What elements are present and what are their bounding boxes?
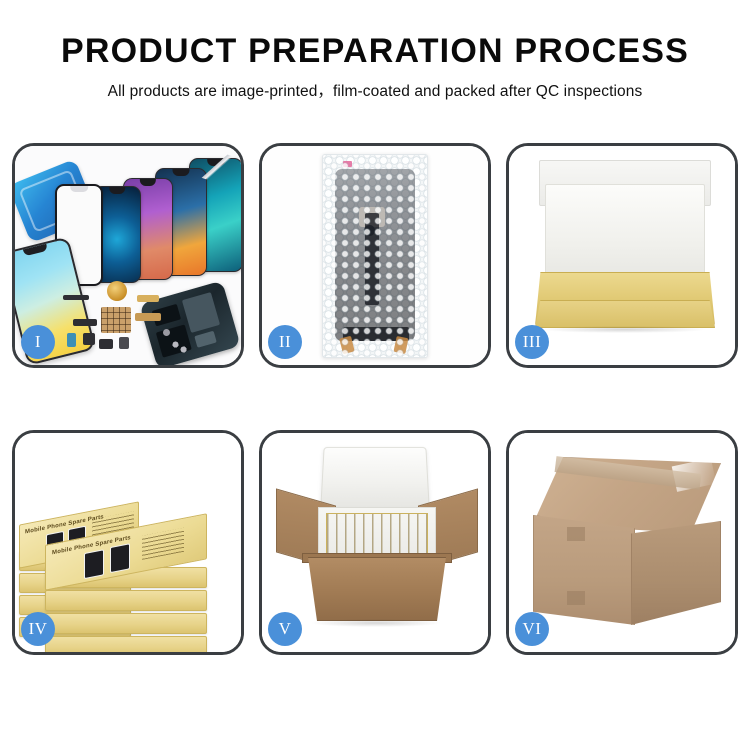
box-tray-front [535, 300, 715, 328]
gold-flex-2 [135, 313, 161, 321]
carton-side-face [631, 521, 721, 625]
box-spec-lines [142, 528, 184, 560]
page-subtitle: All products are image-printed，film-coat… [0, 79, 750, 101]
product-preparation-infographic: PRODUCT PREPARATION PROCESS All products… [0, 0, 750, 750]
bubble-wrap-bag [322, 154, 428, 358]
wrapped-screen [335, 169, 415, 341]
chip-grid-part [101, 307, 131, 333]
step-badge-1: I [21, 325, 55, 359]
camera-module [83, 333, 95, 345]
step-panel-2: II [259, 143, 491, 368]
chassis-module [194, 331, 217, 348]
sealed-carton [533, 457, 719, 625]
retail-box [45, 613, 207, 634]
screen-connector [359, 207, 385, 227]
screen-bottom-strip [343, 327, 409, 341]
step-badge-6: VI [515, 612, 549, 646]
step-panel-4: Mobile Phone Spare Parts Mobile Phone Sp… [12, 430, 244, 655]
button-part [163, 329, 170, 336]
carton-shadow [312, 619, 440, 627]
step-panel-1: I [12, 143, 244, 368]
gold-contact-left [339, 336, 355, 354]
gold-contact-right [393, 336, 408, 354]
packed-boxes [326, 513, 428, 557]
foam-lid [320, 447, 430, 509]
step-badge-4: IV [21, 612, 55, 646]
box-phone-image [84, 549, 104, 579]
open-carton [276, 445, 478, 631]
small-part-1 [99, 339, 113, 349]
box-shadow [543, 326, 705, 333]
retail-box [45, 636, 207, 655]
small-part-2 [119, 337, 129, 349]
carton-handle-tab-bottom [567, 591, 585, 605]
screen-camera-hole [364, 225, 375, 236]
step-panel-5: V [259, 430, 491, 655]
qc-sticker [343, 161, 352, 167]
screen-flex-cable [365, 213, 379, 305]
carton-handle-tab-top [567, 527, 585, 541]
page-title: PRODUCT PREPARATION PROCESS [0, 34, 750, 70]
box-phone-image [110, 543, 130, 573]
step-badge-2: II [268, 325, 302, 359]
step-panel-3: III [506, 143, 738, 368]
speaker-part [107, 281, 127, 301]
flex-cable-1 [63, 295, 89, 300]
header: PRODUCT PREPARATION PROCESS All products… [0, 0, 750, 101]
spare-parts-group [63, 289, 195, 361]
gold-flex-1 [137, 295, 159, 302]
step-badge-5: V [268, 612, 302, 646]
step-badge-3: III [515, 325, 549, 359]
step-panel-6: VI [506, 430, 738, 655]
flex-cable-2 [73, 319, 97, 326]
retail-box-stack: Mobile Phone Spare Parts Mobile Phone Sp… [19, 455, 235, 635]
retail-box [45, 590, 207, 611]
carton-body [302, 557, 452, 621]
steps-grid: I II [12, 143, 738, 655]
screws [171, 339, 189, 353]
connector-part [67, 333, 76, 347]
inner-box [529, 160, 719, 336]
